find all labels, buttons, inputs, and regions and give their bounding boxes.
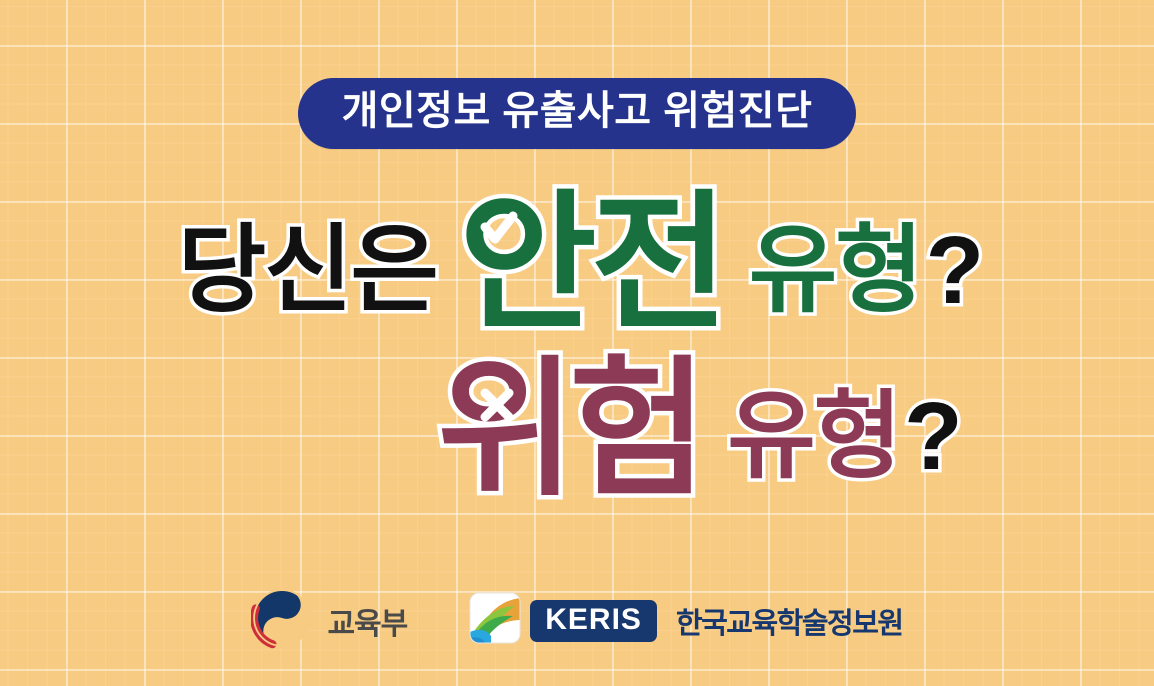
- diagnosis-badge: 개인정보 유출사고 위험진단: [298, 78, 857, 149]
- moe-logo-group: 교육부: [251, 587, 407, 654]
- headline-line-risk: 위험 유형 ?: [191, 338, 962, 488]
- moe-name-label: 교육부: [327, 599, 407, 643]
- headline-suffix-risk: 유형: [727, 389, 900, 485]
- headline-question-mark-risk: ?: [904, 389, 963, 485]
- keris-acronym-label: KERIS: [530, 600, 657, 642]
- headline-prefix: 당신은: [178, 223, 437, 319]
- keris-name-label: 한국교육학술정보원: [676, 600, 903, 642]
- headline-keyword-safe: 안전: [459, 188, 723, 338]
- headline-question-mark-safe: ?: [925, 223, 984, 319]
- keris-leaf-icon: [469, 592, 521, 649]
- taegeuk-icon: [251, 587, 313, 654]
- poster-canvas: 개인정보 유출사고 위험진단 당신은 안전 유형 ? 위험 유형 ?: [0, 0, 1154, 686]
- badge-row: 개인정보 유출사고 위험진단: [0, 78, 1154, 149]
- headline-line-safe: 당신은 안전 유형 ?: [170, 172, 984, 322]
- headline-keyword-risk: 위험: [437, 354, 701, 504]
- keris-logo-group: KERIS 한국교육학술정보원: [469, 592, 902, 649]
- headline-suffix-safe: 유형: [749, 223, 922, 319]
- headline-block: 당신은 안전 유형 ? 위험 유형 ?: [0, 172, 1154, 488]
- footer-logos: 교육부: [0, 587, 1154, 654]
